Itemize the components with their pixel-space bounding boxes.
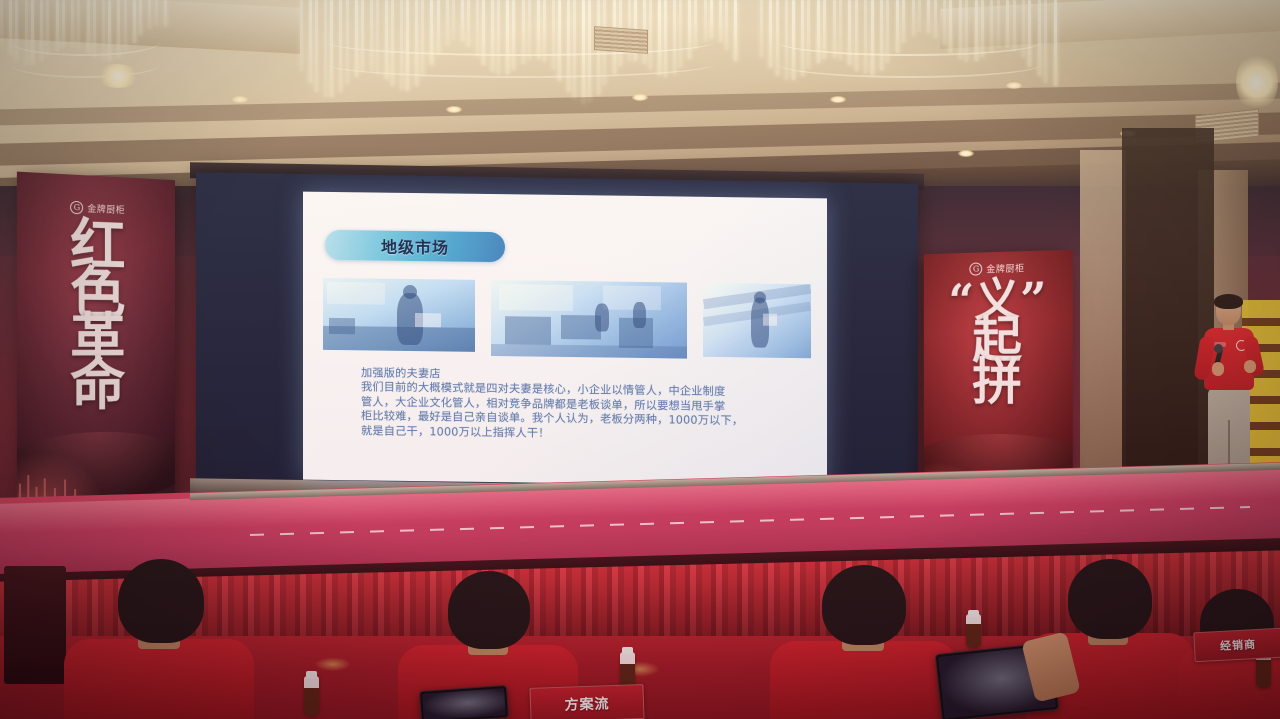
slide-photo-woman-walking [703, 283, 811, 358]
conference-hall-photo: 地级市场 [0, 0, 1280, 719]
calligraphy-char-3: 拼 [924, 358, 1073, 407]
slide-photo-open-plan-office [491, 280, 687, 359]
banner-left-red-revolution: G 金牌厨柜 红 色 革 命 [17, 172, 175, 511]
slide-title-pill: 地级市场 [325, 230, 505, 262]
ceiling-soffit-left [0, 0, 300, 54]
downlight-2 [446, 106, 462, 113]
calligraphy-char-4: 命 [17, 359, 175, 415]
attendee-shirt [770, 641, 958, 719]
presentation-slide: 地级市场 [303, 192, 827, 487]
presenter-hair [1214, 294, 1243, 309]
microphone-head-icon [1214, 344, 1223, 353]
attendee-head [822, 565, 906, 645]
ceiling-lamp-a [96, 64, 140, 88]
table-name-card-2: 经销商 [1193, 628, 1280, 663]
attendee-front-left [64, 559, 254, 719]
banner-right-calligraphy: “义” 起 拼 [924, 276, 1073, 406]
slide-body-text: 加强版的夫妻店 我们目前的大概模式就是四对夫妻是核心，小企业以情管人，中企业制度… [361, 366, 781, 444]
presenter-hand-right [1244, 360, 1256, 373]
downlight-3 [632, 94, 648, 101]
downlight-5 [1006, 82, 1022, 89]
attendee-head [448, 571, 530, 649]
doorway-light-panel [1080, 150, 1126, 480]
table-name-card-1: 方案流 [529, 684, 644, 719]
downlight-8 [958, 150, 974, 157]
attendee-head [118, 559, 204, 643]
slide-title: 地级市场 [381, 234, 449, 259]
bottle-cap-2 [622, 647, 633, 654]
smartphone-on-table[interactable] [419, 685, 509, 719]
downlight-4 [830, 96, 846, 103]
water-bottle-1 [304, 676, 319, 716]
smartphone-screen [422, 688, 506, 719]
air-vent [594, 26, 648, 54]
table-name-card-label: 方案流 [564, 693, 610, 715]
downlight-1 [232, 96, 248, 103]
presenter-hand-left [1212, 362, 1224, 376]
chair-back-left [4, 566, 66, 684]
attendee-head [1068, 559, 1152, 639]
attendee-front-center [770, 567, 958, 719]
water-bottle-3 [966, 614, 981, 648]
slide-photo-man-reviewing-documents [323, 278, 475, 352]
ceiling-soffit-right [940, 0, 1280, 49]
table-name-card-label: 经销商 [1220, 636, 1257, 654]
attendee-shirt [64, 639, 254, 719]
banner-left-calligraphy: 红 色 革 命 [17, 217, 175, 415]
ceiling-lamp-b [1236, 52, 1278, 112]
bottle-cap-3 [968, 610, 979, 617]
bottle-cap-1 [306, 671, 317, 678]
slide-photo-strip [323, 278, 811, 360]
